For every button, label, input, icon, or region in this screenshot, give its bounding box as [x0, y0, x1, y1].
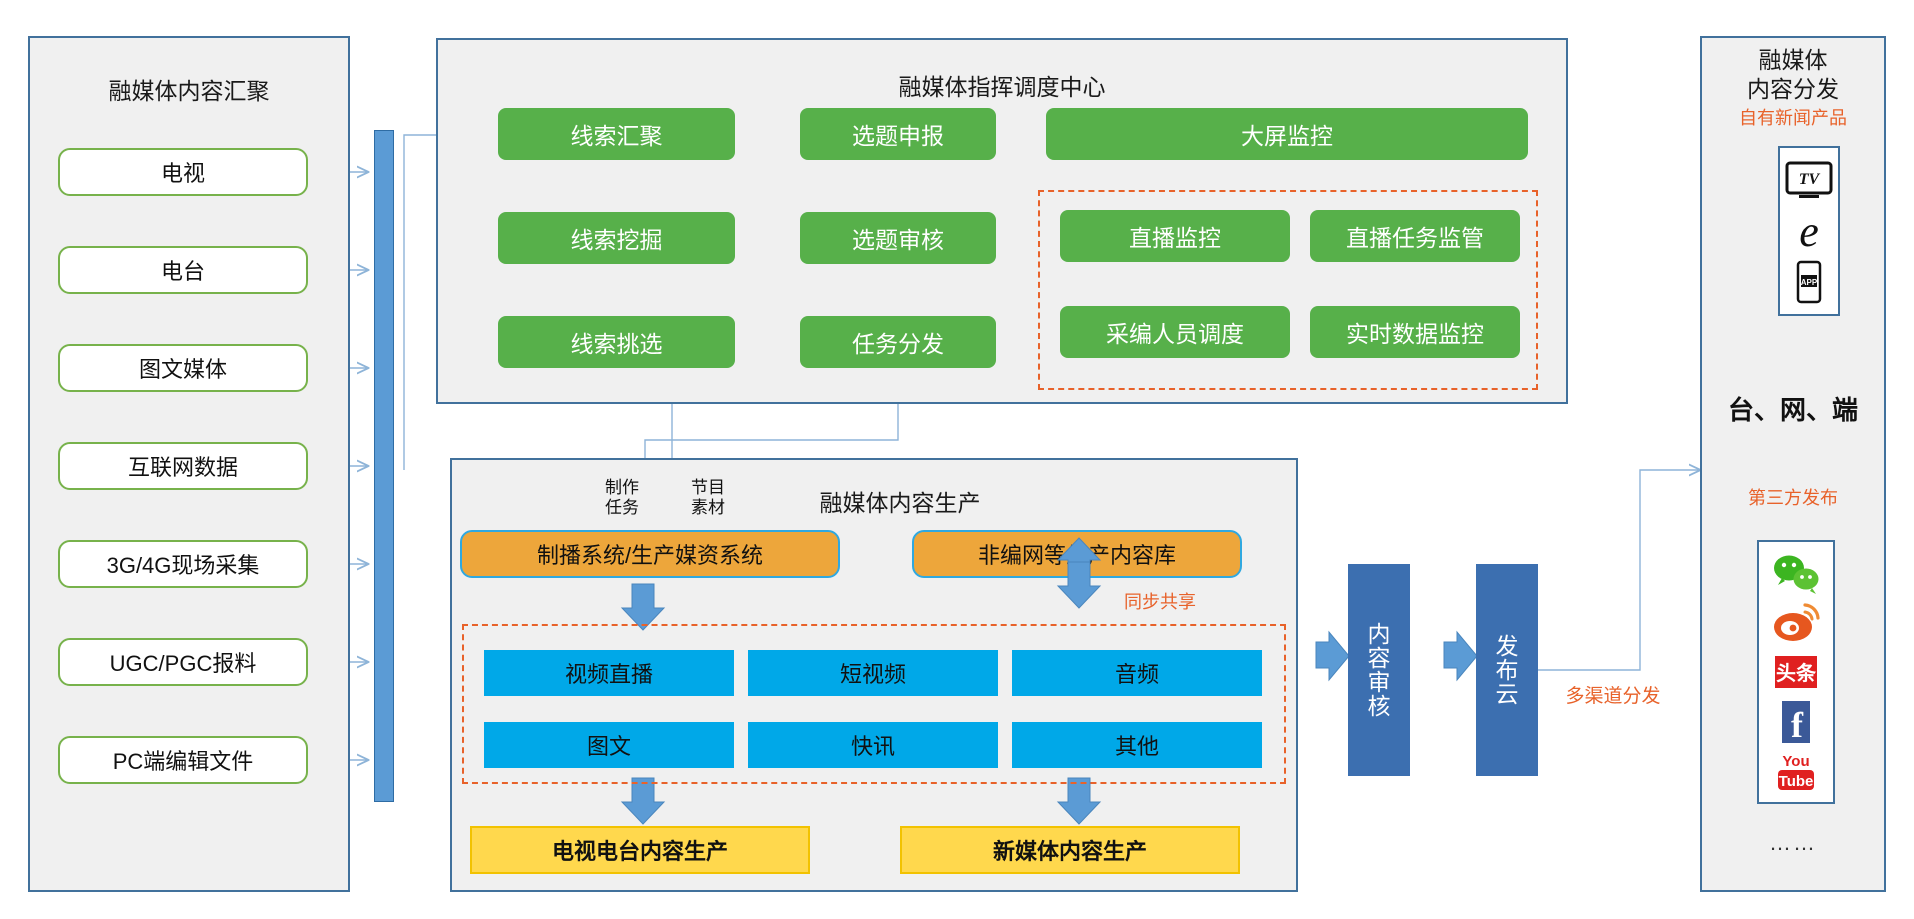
content-type-news-flash[interactable]: 快讯 [748, 722, 998, 768]
content-type-short-video[interactable]: 短视频 [748, 650, 998, 696]
third-party-icon-group: 头条 f You Tube [1757, 540, 1835, 804]
production-title: 融媒体内容生产 [740, 484, 1060, 518]
clue-aggregation-box[interactable]: 线索汇聚 [498, 108, 735, 160]
mobile-app-icon[interactable]: APP [1781, 259, 1837, 305]
box-label: 大屏监控 [1241, 117, 1333, 151]
program-material-label: 节目 素材 [678, 478, 738, 517]
topic-submission-box[interactable]: 选题申报 [800, 108, 996, 160]
box-label-char: 云 [1496, 682, 1519, 706]
box-label: 音频 [1115, 657, 1159, 689]
box-label-char: 发 [1496, 634, 1519, 658]
box-label-char: 审 [1368, 670, 1391, 694]
content-type-live-video[interactable]: 视频直播 [484, 650, 734, 696]
box-label-char: 核 [1368, 694, 1391, 718]
box-label: 直播监控 [1129, 219, 1221, 253]
distribution-title: 融媒体 内容分发 [1700, 46, 1886, 104]
aggregation-title: 融媒体内容汇聚 [28, 72, 350, 106]
sync-share-label: 同步共享 [1100, 592, 1220, 614]
box-label: 选题申报 [852, 117, 944, 151]
content-type-audio[interactable]: 音频 [1012, 650, 1262, 696]
svg-text:Tube: Tube [1779, 773, 1814, 790]
command-center-title: 融媒体指挥调度中心 [436, 68, 1568, 102]
toutiao-icon[interactable]: 头条 [1768, 649, 1824, 695]
box-label: 新媒体内容生产 [993, 834, 1147, 866]
source-item-internet-data[interactable]: 互联网数据 [58, 442, 308, 490]
svg-text:e: e [1799, 208, 1819, 254]
box-label: 非编网等生产内容库 [978, 538, 1176, 570]
box-label: 电视电台内容生产 [552, 834, 728, 866]
youtube-icon[interactable]: You Tube [1768, 748, 1824, 794]
box-label: 线索挑选 [571, 325, 663, 359]
box-label: 线索汇聚 [571, 117, 663, 151]
clue-selection-box[interactable]: 线索挑选 [498, 316, 735, 368]
nonlinear-editing-library-box[interactable]: 非编网等生产内容库 [912, 530, 1242, 578]
weibo-icon[interactable] [1768, 599, 1824, 645]
own-products-footer: 台、网、端 [1700, 390, 1886, 427]
box-label-char: 布 [1496, 658, 1519, 682]
box-label: 选题审核 [852, 221, 944, 255]
new-media-production-output[interactable]: 新媒体内容生产 [900, 826, 1240, 874]
realtime-data-monitor-box[interactable]: 实时数据监控 [1310, 306, 1520, 358]
live-monitor-box[interactable]: 直播监控 [1060, 210, 1290, 262]
source-item-text-media[interactable]: 图文媒体 [58, 344, 308, 392]
source-label: 图文媒体 [139, 352, 227, 384]
box-label: 图文 [587, 729, 631, 761]
source-item-tv[interactable]: 电视 [58, 148, 308, 196]
source-label: 电视 [161, 156, 205, 188]
own-products-label: 自有新闻产品 [1700, 108, 1886, 130]
bigscreen-monitor-box[interactable]: 大屏监控 [1046, 108, 1528, 160]
content-type-graphic-text[interactable]: 图文 [484, 722, 734, 768]
content-type-other[interactable]: 其他 [1012, 722, 1262, 768]
svg-text:TV: TV [1799, 171, 1821, 188]
tv-icon[interactable]: TV [1781, 157, 1837, 203]
multichannel-distribution-label: 多渠道分发 [1548, 686, 1678, 709]
box-label: 短视频 [840, 657, 906, 689]
box-label: 实时数据监控 [1346, 315, 1484, 349]
facebook-icon[interactable]: f [1768, 699, 1824, 745]
source-label: PC端编辑文件 [113, 744, 254, 776]
box-label-char: 内 [1368, 622, 1391, 646]
box-label-char: 容 [1368, 646, 1391, 670]
content-review-box[interactable]: 内 容 审 核 [1348, 564, 1410, 776]
topic-review-box[interactable]: 选题审核 [800, 212, 996, 264]
box-label: 任务分发 [852, 325, 944, 359]
svg-text:f: f [1791, 705, 1804, 745]
source-label: 电台 [161, 254, 205, 286]
box-label: 视频直播 [565, 657, 653, 689]
task-dispatch-box[interactable]: 任务分发 [800, 316, 996, 368]
source-item-ugc-pgc[interactable]: UGC/PGC报料 [58, 638, 308, 686]
box-label: 其他 [1115, 729, 1159, 761]
box-label: 快讯 [851, 729, 895, 761]
box-label: 制播系统/生产媒资系统 [537, 538, 763, 570]
wechat-icon[interactable] [1768, 550, 1824, 596]
diagram-canvas: 融媒体内容汇聚 电视 电台 图文媒体 互联网数据 3G/4G现场采集 UGC/P… [0, 0, 1914, 919]
svg-text:头条: 头条 [1776, 661, 1817, 685]
box-label: 采编人员调度 [1106, 315, 1244, 349]
source-label: 互联网数据 [128, 450, 238, 482]
live-task-supervision-box[interactable]: 直播任务监管 [1310, 210, 1520, 262]
source-item-pc-files[interactable]: PC端编辑文件 [58, 736, 308, 784]
tv-radio-production-output[interactable]: 电视电台内容生产 [470, 826, 810, 874]
box-label: 线索挖掘 [571, 221, 663, 255]
more-channels-ellipsis: …… [1700, 830, 1886, 856]
third-party-publish-label: 第三方发布 [1700, 488, 1886, 510]
production-task-label: 制作 任务 [592, 478, 652, 517]
clue-mining-box[interactable]: 线索挖掘 [498, 212, 735, 264]
broadcast-system-box[interactable]: 制播系统/生产媒资系统 [460, 530, 840, 578]
own-products-icon-group: TV e APP [1778, 146, 1840, 316]
source-label: 3G/4G现场采集 [107, 548, 260, 580]
collector-rail [374, 130, 394, 802]
source-item-radio[interactable]: 电台 [58, 246, 308, 294]
ie-browser-icon[interactable]: e [1781, 208, 1837, 254]
publish-cloud-box[interactable]: 发 布 云 [1476, 564, 1538, 776]
svg-text:You: You [1782, 753, 1809, 770]
box-label: 直播任务监管 [1346, 219, 1484, 253]
source-label: UGC/PGC报料 [110, 646, 257, 678]
svg-text:APP: APP [1801, 278, 1818, 287]
staff-dispatch-box[interactable]: 采编人员调度 [1060, 306, 1290, 358]
source-item-3g4g-capture[interactable]: 3G/4G现场采集 [58, 540, 308, 588]
